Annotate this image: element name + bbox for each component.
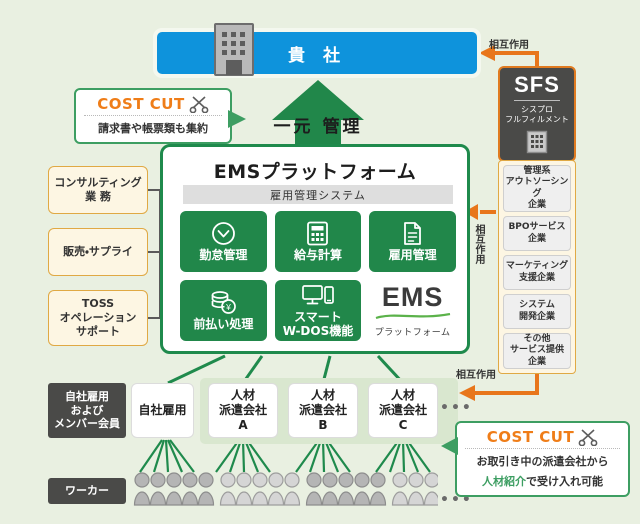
cost-cut-body: 請求書や帳票類も集約 xyxy=(84,116,222,136)
ems-logo: EMS プラットフォーム xyxy=(369,280,456,341)
company-box-dispatch-c[interactable]: 人材派遣会社C xyxy=(368,383,438,438)
company-box-label: 人材派遣会社A xyxy=(219,388,267,433)
company-box-label: 人材派遣会社C xyxy=(379,388,427,433)
interaction-label-middle: 相互作用 xyxy=(470,224,484,264)
partner-item-label: 管理系アウトソーシング企業 xyxy=(504,166,570,211)
feature-tile-attendance[interactable]: 勤怠管理 xyxy=(180,211,267,272)
partner-company-list: 管理系アウトソーシング企業 BPOサービス企業 マーケティング支援企業 システム… xyxy=(498,160,576,374)
feature-tile-grid: 勤怠管理 給与計算 xyxy=(180,211,456,341)
own-employment-label: 自社雇用およびメンバー会員 xyxy=(48,383,126,438)
company-box-dispatch-a[interactable]: 人材派遣会社A xyxy=(208,383,278,438)
worker-people-icons xyxy=(128,470,438,506)
cost-cut-body-line2: 人材紹介で受け入れ可能 xyxy=(465,469,620,489)
calculator-icon xyxy=(306,221,329,247)
ems-platform-subtitle-bar: 雇用管理システム xyxy=(183,185,453,204)
ems-platform-card: EMSプラットフォーム 雇用管理システム 勤怠管理 xyxy=(160,144,470,354)
ems-platform-subtitle: 雇用管理システム xyxy=(270,187,366,203)
partner-item-system-dev[interactable]: システム開発企業 xyxy=(503,294,571,329)
partner-item-other-services[interactable]: その他サービス提供企業 xyxy=(503,333,571,369)
worker-label-text: ワーカー xyxy=(65,484,109,498)
sfs-card[interactable]: SFS シスプロ フルフィルメント xyxy=(498,66,576,162)
cost-cut-body-rest: で受け入れ可能 xyxy=(526,475,603,488)
feature-tile-label: 勤怠管理 xyxy=(199,249,247,262)
unify-label: 一元 管理 xyxy=(258,112,378,137)
feature-tile-label: 給与計算 xyxy=(294,249,342,262)
interaction-label-top: 相互作用 xyxy=(489,36,529,51)
feature-tile-label: 前払い処理 xyxy=(193,318,253,331)
sfs-name: SFS xyxy=(514,74,560,96)
sfs-divider xyxy=(514,100,560,101)
partner-item-marketing[interactable]: マーケティング支援企業 xyxy=(503,255,571,290)
feature-tile-advance-payment[interactable]: ¥ 前払い処理 xyxy=(180,280,267,341)
dispatch-ellipsis: ••• xyxy=(440,400,473,416)
feature-tile-label: スマートW-DOS機能 xyxy=(283,311,353,337)
cost-cut-callout-top: COST CUT 請求書や帳票類も集約 xyxy=(74,88,232,144)
cost-cut-title: COST CUT xyxy=(487,428,574,446)
cost-cut-body-line1: お取引き中の派遣会社から xyxy=(465,449,620,469)
company-box-label: 人材派遣会社B xyxy=(299,388,347,433)
interaction-label-bottom: 相互作用 xyxy=(456,366,496,381)
coins-yen-icon: ¥ xyxy=(209,290,237,316)
cost-cut-highlight: 人材紹介 xyxy=(482,475,526,488)
company-box-label: 自社雇用 xyxy=(138,403,186,418)
partner-item-bpo[interactable]: BPOサービス企業 xyxy=(503,216,571,251)
partner-item-admin-outsourcing[interactable]: 管理系アウトソーシング企業 xyxy=(503,165,571,212)
office-building-icon xyxy=(526,130,548,154)
sfs-subtitle-line1: シスプロ xyxy=(521,105,553,115)
document-icon xyxy=(402,221,423,247)
partner-item-label: その他サービス提供企業 xyxy=(510,334,564,368)
ems-platform-title: EMSプラットフォーム xyxy=(163,157,467,184)
feature-tile-payroll[interactable]: 給与計算 xyxy=(275,211,362,272)
partner-item-label: マーケティング支援企業 xyxy=(506,261,568,284)
ems-logo-main: EMS xyxy=(382,284,444,311)
service-box-label: コンサルティング業 務 xyxy=(54,176,141,204)
service-box-consulting[interactable]: コンサルティング業 務 xyxy=(48,166,148,214)
ems-logo-swoosh-icon xyxy=(374,313,452,320)
worker-label: ワーカー xyxy=(48,478,126,504)
ems-logo-sub: プラットフォーム xyxy=(375,325,451,338)
own-employment-label-text: 自社雇用およびメンバー会員 xyxy=(54,390,120,431)
svg-text:¥: ¥ xyxy=(225,302,231,312)
monitor-mobile-icon xyxy=(302,283,334,309)
company-box-own-employment[interactable]: 自社雇用 xyxy=(131,383,194,438)
company-box-dispatch-b[interactable]: 人材派遣会社B xyxy=(288,383,358,438)
callout-tail-bottom xyxy=(441,437,458,455)
clock-icon xyxy=(211,221,236,247)
scissors-icon xyxy=(189,95,209,113)
service-box-toss-support[interactable]: TOSSオペレーションサポート xyxy=(48,290,148,346)
client-company-label: 貴 社 xyxy=(288,41,346,66)
feature-tile-employment[interactable]: 雇用管理 xyxy=(369,211,456,272)
feature-tile-label: 雇用管理 xyxy=(389,249,437,262)
cost-cut-callout-bottom: COST CUT お取引き中の派遣会社から 人材紹介で受け入れ可能 xyxy=(455,421,630,497)
cost-cut-title: COST CUT xyxy=(97,95,184,113)
sfs-subtitle-line2: フルフィルメント xyxy=(505,115,569,125)
service-box-label: 販売・サプライ xyxy=(63,245,133,259)
service-box-label: TOSSオペレーションサポート xyxy=(60,297,137,338)
feature-tile-smart-wdos[interactable]: スマートW-DOS機能 xyxy=(275,280,362,341)
scissors-icon xyxy=(578,428,598,446)
partner-item-label: BPOサービス企業 xyxy=(508,222,565,245)
service-box-sales-supply[interactable]: 販売・サプライ xyxy=(48,228,148,276)
diagram-canvas: 貴 社 COST CUT 請求書や帳票類も集約 一元 管理 EMSプラ xyxy=(0,0,640,524)
partner-item-label: システム開発企業 xyxy=(519,300,555,323)
client-company-banner: 貴 社 xyxy=(157,32,477,74)
callout-tail-top xyxy=(228,110,246,128)
office-building-icon xyxy=(213,22,255,77)
